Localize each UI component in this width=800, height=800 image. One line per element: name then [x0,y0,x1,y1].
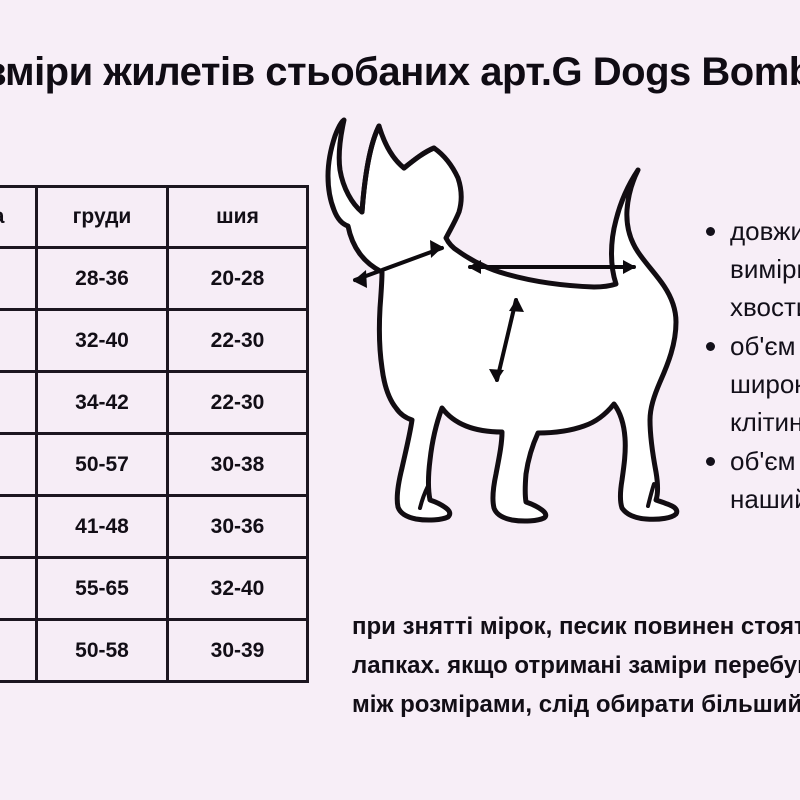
page-root: Розміри жилетів стьобаних арт.G Dogs Bom… [0,0,800,800]
table-row: 28-36 20-28 [0,248,308,310]
cell-length [0,248,37,310]
cell-length [0,496,37,558]
cell-chest: 50-58 [37,620,168,682]
table-row: 41-48 30-36 [0,496,308,558]
cell-neck: 22-30 [168,310,308,372]
table-row: 50-57 30-38 [0,434,308,496]
cell-length [0,310,37,372]
cell-chest: 41-48 [37,496,168,558]
cell-length [0,372,37,434]
dog-body-outline [328,120,677,521]
column-header-chest: груди [37,187,168,248]
measurement-instructions-list: довжина спинки вимірюється від шиї до хв… [700,212,800,519]
cell-neck: 30-39 [168,620,308,682]
table-header-row: довжина груди шия [0,187,308,248]
cell-chest: 50-57 [37,434,168,496]
dog-silhouette-icon [328,120,677,521]
cell-length [0,620,37,682]
cell-neck: 30-38 [168,434,308,496]
cell-neck: 30-36 [168,496,308,558]
column-header-length: довжина [0,187,37,248]
column-header-neck: шия [168,187,308,248]
page-title: Розміри жилетів стьобаних арт.G Dogs Bom… [0,46,800,98]
cell-length [0,434,37,496]
list-item: об'єм шиї - об'єм нашийника [700,442,800,518]
measurement-note: при знятті мірок, песик повинен стояти н… [352,607,800,724]
table-row: 55-65 32-40 [0,558,308,620]
cell-neck: 20-28 [168,248,308,310]
table-row: 50-58 30-39 [0,620,308,682]
cell-neck: 32-40 [168,558,308,620]
dog-measurement-illustration [322,108,722,533]
size-chart-table: довжина груди шия 28-36 20-28 32-40 22-3… [0,185,309,683]
cell-chest: 34-42 [37,372,168,434]
list-item: довжина спинки вимірюється від шиї до хв… [700,212,800,326]
cell-length [0,558,37,620]
cell-chest: 55-65 [37,558,168,620]
cell-neck: 22-30 [168,372,308,434]
cell-chest: 32-40 [37,310,168,372]
cell-chest: 28-36 [37,248,168,310]
list-item: об'єм грудей - широкої частини грудної к… [700,327,800,441]
table-row: 32-40 22-30 [0,310,308,372]
table-row: 34-42 22-30 [0,372,308,434]
